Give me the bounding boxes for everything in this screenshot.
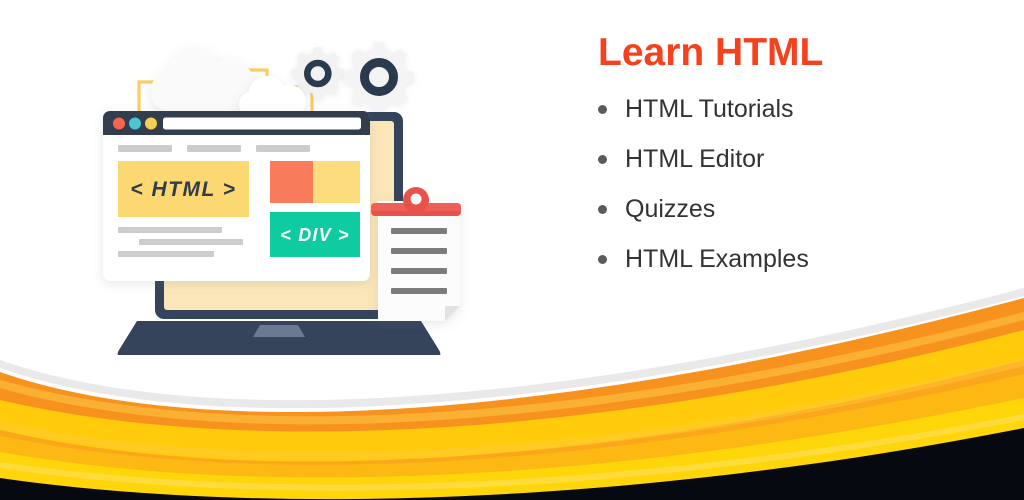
- browser-address-bar[interactable]: [163, 118, 361, 130]
- browser-nav-placeholders: [118, 145, 310, 152]
- list-item[interactable]: HTML Tutorials: [598, 97, 998, 122]
- coral-swatch: [270, 161, 313, 203]
- learn-html-banner: < HTML > < DIV >: [0, 0, 1024, 500]
- list-item-label: HTML Examples: [625, 247, 809, 272]
- div-tag-label: < DIV >: [280, 225, 349, 245]
- gear-large-icon: [344, 42, 414, 112]
- laptop-base: [118, 321, 441, 355]
- yellow-swatch: [313, 161, 360, 203]
- bullet-icon: [598, 155, 607, 164]
- list-item[interactable]: Quizzes: [598, 197, 998, 222]
- bullet-icon: [598, 105, 607, 114]
- div-tag-block: < DIV >: [270, 212, 360, 257]
- browser-dot-yellow[interactable]: [145, 118, 157, 130]
- bullet-icon: [598, 205, 607, 214]
- feature-list: HTML Tutorials HTML Editor Quizzes HTML …: [598, 97, 998, 272]
- wave-orange-mid: [0, 336, 1024, 500]
- wave-yellow-bright: [0, 398, 1024, 500]
- html-tag-label: < HTML >: [130, 178, 236, 201]
- clipboard-icon: [378, 201, 460, 321]
- list-item-label: HTML Editor: [625, 147, 764, 172]
- list-item-label: Quizzes: [625, 197, 715, 222]
- browser-dot-teal[interactable]: [129, 118, 141, 130]
- list-item[interactable]: HTML Editor: [598, 147, 998, 172]
- wave-black-base: [0, 428, 1024, 500]
- html-tag-block: < HTML >: [118, 161, 249, 217]
- list-item[interactable]: HTML Examples: [598, 247, 998, 272]
- bullet-icon: [598, 255, 607, 264]
- laptop-browser-coding-illustration: < HTML > < DIV >: [95, 25, 485, 355]
- browser-dot-red[interactable]: [113, 118, 125, 130]
- page-title: Learn HTML: [598, 32, 998, 75]
- wave-orange-light: [0, 374, 1024, 500]
- list-item-label: HTML Tutorials: [625, 97, 794, 122]
- text-column: Learn HTML HTML Tutorials HTML Editor Qu…: [598, 32, 998, 272]
